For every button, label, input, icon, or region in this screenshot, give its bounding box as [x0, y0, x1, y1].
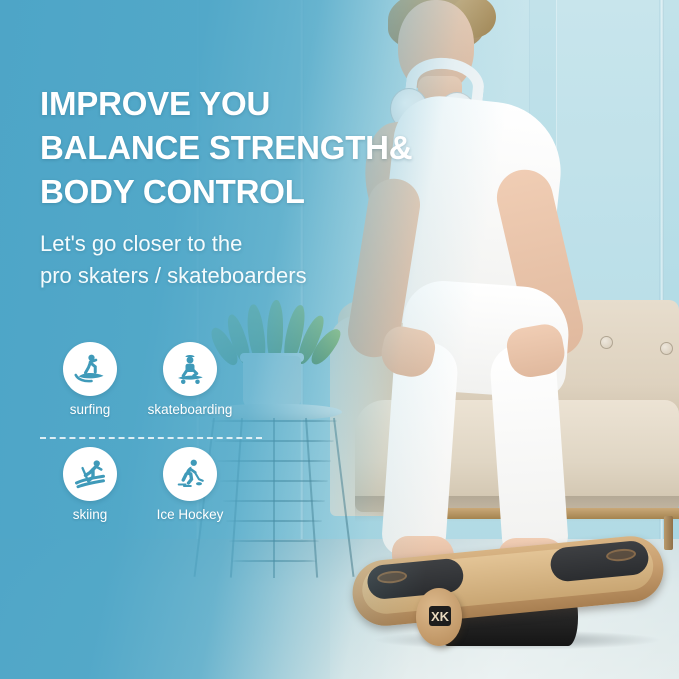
- skateboarding-icon: [163, 342, 217, 396]
- feature-label: skiing: [40, 507, 140, 522]
- headline-line-1: IMPROVE YOU: [40, 82, 412, 126]
- feature-label: skateboarding: [140, 402, 240, 417]
- feature-skateboarding: skateboarding: [140, 342, 240, 417]
- subtitle: Let's go closer to the pro skaters / ska…: [40, 228, 307, 292]
- subtitle-line-1: Let's go closer to the: [40, 228, 307, 260]
- headline-line-2: BALANCE STRENGTH&: [40, 126, 412, 170]
- headline-line-3: BODY CONTROL: [40, 170, 412, 214]
- feature-icon-grid: surfing: [40, 342, 260, 552]
- feature-label: surfing: [40, 402, 140, 417]
- feature-label: Ice Hockey: [140, 507, 240, 522]
- skiing-icon: [63, 447, 117, 501]
- dashed-divider: [40, 437, 262, 439]
- feature-row-top: surfing: [40, 342, 260, 447]
- subtitle-line-2: pro skaters / skateboarders: [40, 260, 307, 292]
- feature-ice-hockey: Ice Hockey: [140, 447, 240, 522]
- page-title: IMPROVE YOU BALANCE STRENGTH& BODY CONTR…: [40, 82, 412, 215]
- feature-skiing: skiing: [40, 447, 140, 522]
- content-layer: IMPROVE YOU BALANCE STRENGTH& BODY CONTR…: [0, 0, 679, 679]
- feature-surfing: surfing: [40, 342, 140, 417]
- product-lifestyle-banner: XK IMPROVE YOU BALANCE STRENGTH& BODY CO…: [0, 0, 679, 679]
- ice-hockey-icon: [163, 447, 217, 501]
- surfing-icon: [63, 342, 117, 396]
- feature-row-bottom: skiing: [40, 447, 260, 552]
